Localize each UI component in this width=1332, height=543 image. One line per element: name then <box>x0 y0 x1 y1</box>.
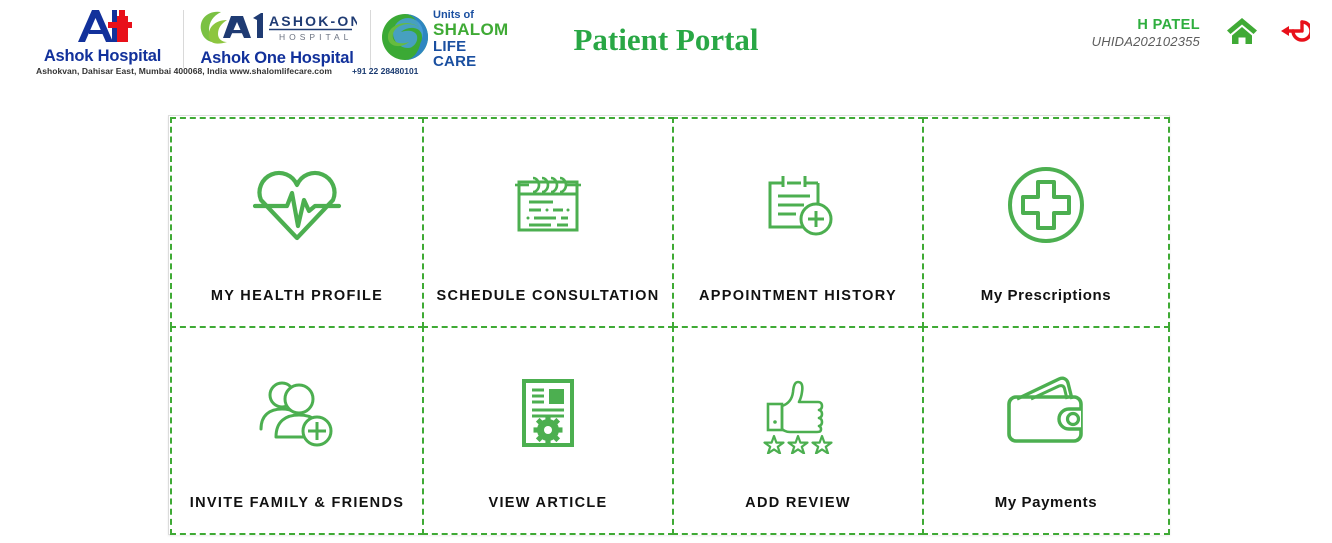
tile-invite-family-friends[interactable]: INVITE FAMILY & FRIENDS <box>170 326 424 535</box>
thumbs-up-stars-icon <box>760 372 836 456</box>
tile-label: ADD REVIEW <box>674 495 922 511</box>
svg-text:ASHOK-ONE: ASHOK-ONE <box>269 13 357 29</box>
user-uhid: UHIDA202102355 <box>1092 34 1200 50</box>
shalom-wordmark: Units of SHALOM LIFE CARE <box>433 10 509 69</box>
main-content: MY HEALTH PROFILE <box>0 90 1332 543</box>
tile-label: My Payments <box>924 494 1168 511</box>
tile-label: VIEW ARTICLE <box>424 495 672 511</box>
tile-label: MY HEALTH PROFILE <box>172 288 422 304</box>
logo-divider-2 <box>370 10 371 68</box>
svg-text:HOSPITAL: HOSPITAL <box>279 32 352 42</box>
tile-label: SCHEDULE CONSULTATION <box>424 288 672 304</box>
a1-emblem-icon: ASHOK-ONE HOSPITAL <box>192 8 362 48</box>
brand-logos: Ashok Hospital ASHOK-ONE HOSPITAL Ashok … <box>0 0 509 69</box>
tile-my-health-profile[interactable]: MY HEALTH PROFILE <box>170 117 424 328</box>
hospital-phone: +91 22 28480101 <box>352 66 418 76</box>
ah-brand-name: Ashok Hospital <box>30 47 175 66</box>
tile-my-prescriptions[interactable]: My Prescriptions <box>922 117 1170 328</box>
tile-add-review[interactable]: ADD REVIEW <box>672 326 924 535</box>
logo-ashok-one-hospital: ASHOK-ONE HOSPITAL Ashok One Hospital <box>192 6 362 68</box>
logo-divider-1 <box>183 10 184 68</box>
article-gear-icon <box>516 372 580 456</box>
home-icon[interactable] <box>1226 16 1258 46</box>
tile-label: My Prescriptions <box>924 287 1168 304</box>
document-plus-icon <box>760 163 836 247</box>
logo-shalom-life-care: Units of SHALOM LIFE CARE <box>379 6 509 69</box>
tile-view-article[interactable]: VIEW ARTICLE <box>422 326 674 535</box>
user-name: H PATEL <box>1092 16 1200 34</box>
medical-cross-icon <box>1005 163 1087 247</box>
shalom-name: SHALOM <box>433 21 509 38</box>
notepad-icon <box>511 163 585 247</box>
logout-icon[interactable] <box>1280 17 1310 45</box>
logo-ashok-hospital: Ashok Hospital <box>30 6 175 66</box>
wallet-icon <box>1001 372 1091 456</box>
tile-appointment-history[interactable]: APPOINTMENT HISTORY <box>672 117 924 328</box>
shalom-lifecare: LIFE CARE <box>433 39 509 70</box>
services-panel: MY HEALTH PROFILE <box>168 115 1170 535</box>
ah-monogram-icon <box>30 8 175 44</box>
hospital-address: Ashokvan, Dahisar East, Mumbai 400068, I… <box>36 66 332 76</box>
user-info: H PATEL UHIDA202102355 <box>1092 14 1200 50</box>
heart-pulse-icon <box>251 163 343 247</box>
tile-label: INVITE FAMILY & FRIENDS <box>172 495 422 511</box>
app-header: Ashok Hospital ASHOK-ONE HOSPITAL Ashok … <box>0 0 1332 90</box>
tile-my-payments[interactable]: My Payments <box>922 326 1170 535</box>
services-grid: MY HEALTH PROFILE <box>171 118 1169 534</box>
users-plus-icon <box>255 372 339 456</box>
tile-label: APPOINTMENT HISTORY <box>674 288 922 304</box>
header-right-section: H PATEL UHIDA202102355 <box>1092 14 1310 50</box>
tile-schedule-consultation[interactable]: SCHEDULE CONSULTATION <box>422 117 674 328</box>
header-actions <box>1226 14 1310 46</box>
shalom-globe-icon <box>379 11 431 68</box>
